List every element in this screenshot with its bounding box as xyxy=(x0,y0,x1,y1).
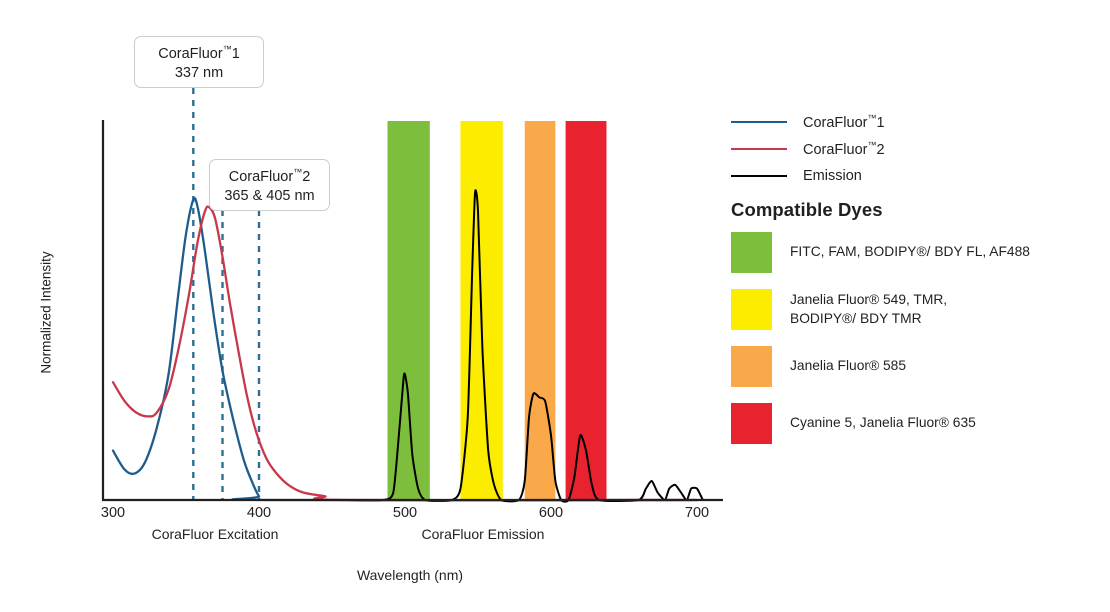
dye-row: Cyanine 5, Janelia Fluor® 635 xyxy=(731,403,1101,444)
callout-corafluor2: CoraFluor™2 365 & 405 nm xyxy=(209,159,330,211)
dye-label-line1: Cyanine 5, Janelia Fluor® 635 xyxy=(790,414,976,433)
excitation-region-label: CoraFluor Excitation xyxy=(130,526,300,542)
compatible-dyes-title: Compatible Dyes xyxy=(731,199,883,221)
dye-label-line1: Janelia Fluor® 549, TMR, xyxy=(790,291,947,310)
callout-1-line2: 337 nm xyxy=(147,64,251,83)
legend-swatch-line xyxy=(731,148,787,150)
legend-swatch-line xyxy=(731,175,787,177)
dye-label-line1: FITC, FAM, BODIPY®/ BDY FL, AF488 xyxy=(790,243,1030,262)
dye-color-swatch xyxy=(731,232,772,273)
emission-region-label: CoraFluor Emission xyxy=(398,526,568,542)
callout-2-line2: 365 & 405 nm xyxy=(222,187,317,206)
dye-label-line2: BODIPY®/ BDY TMR xyxy=(790,310,947,329)
dye-row: Janelia Fluor® 585 xyxy=(731,346,1101,387)
legend-item-CoraFluor2: CoraFluor™2 xyxy=(731,135,1091,162)
red-band xyxy=(566,121,607,500)
dye-color-swatch xyxy=(731,346,772,387)
callout-corafluor1: CoraFluor™1 337 nm xyxy=(134,36,264,88)
legend-item-label: CoraFluor™2 xyxy=(803,140,885,158)
dye-row: Janelia Fluor® 549, TMR,BODIPY®/ BDY TMR xyxy=(731,289,1101,330)
series-legend: CoraFluor™1CoraFluor™2Emission xyxy=(731,108,1091,189)
x-tick-label-500: 500 xyxy=(375,505,435,521)
orange-band xyxy=(525,121,556,500)
dye-label: FITC, FAM, BODIPY®/ BDY FL, AF488 xyxy=(790,243,1030,262)
callout-1-line1: CoraFluor™1 xyxy=(147,44,251,64)
legend-item-label: CoraFluor™1 xyxy=(803,113,885,131)
dye-row: FITC, FAM, BODIPY®/ BDY FL, AF488 xyxy=(731,232,1101,273)
legend-item-Emission: Emission xyxy=(731,162,1091,189)
dye-label: Janelia Fluor® 549, TMR,BODIPY®/ BDY TMR xyxy=(790,291,947,328)
x-tick-label-600: 600 xyxy=(521,505,581,521)
x-axis-title: Wavelength (nm) xyxy=(0,567,820,583)
dye-label: Cyanine 5, Janelia Fluor® 635 xyxy=(790,414,976,433)
y-axis-title: Normalized Intensity xyxy=(39,233,54,393)
x-tick-label-400: 400 xyxy=(229,505,289,521)
dye-color-swatch xyxy=(731,289,772,330)
dye-label-line1: Janelia Fluor® 585 xyxy=(790,357,906,376)
compatible-dyes-list: FITC, FAM, BODIPY®/ BDY FL, AF488Janelia… xyxy=(731,232,1101,460)
dye-label: Janelia Fluor® 585 xyxy=(790,357,906,376)
legend-item-label: Emission xyxy=(803,168,862,184)
trademark-icon: ™ xyxy=(223,44,232,54)
trademark-icon: ™ xyxy=(293,167,302,177)
legend-item-CoraFluor1: CoraFluor™1 xyxy=(731,108,1091,135)
legend-swatch-line xyxy=(731,121,787,123)
x-tick-label-700: 700 xyxy=(667,505,727,521)
dye-color-swatch xyxy=(731,403,772,444)
callout-2-line1: CoraFluor™2 xyxy=(222,167,317,187)
x-tick-label-300: 300 xyxy=(83,505,143,521)
spectra-figure: CoraFluor™1 337 nm CoraFluor™2 365 & 405… xyxy=(0,0,1110,612)
green-band xyxy=(387,121,429,500)
plot-group xyxy=(102,88,723,502)
